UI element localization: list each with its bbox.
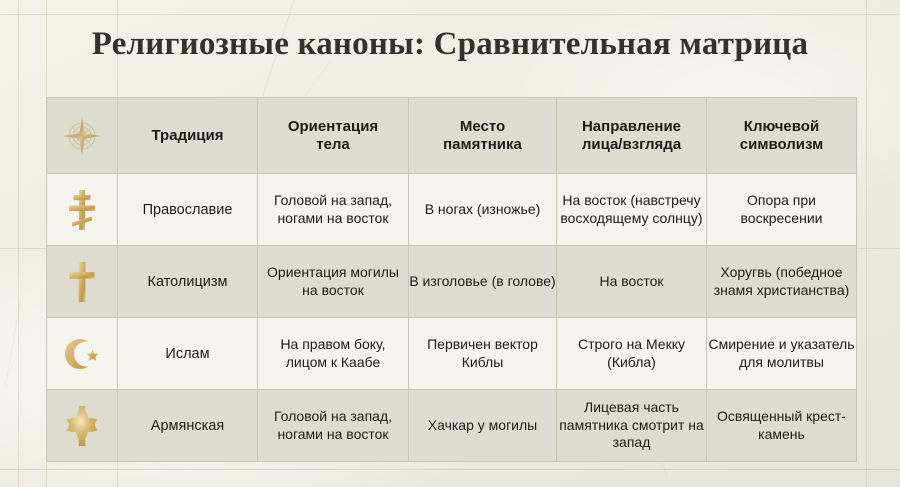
column-header-label-line2: лица/взгляда — [582, 136, 681, 153]
cell-orientation: Ориентация могилы на восток — [258, 246, 409, 318]
column-header-label-line1: Ориентация — [288, 118, 378, 135]
cell-tradition: Ислам — [118, 318, 258, 390]
compass-rose-header-cell — [47, 98, 118, 174]
armenian-cross-icon — [47, 403, 117, 449]
cell-orientation: Головой на запад, ногами на восток — [258, 390, 409, 462]
table-row: Армянская Головой на запад, ногами на во… — [47, 390, 857, 462]
cell-orientation: Головой на запад, ногами на восток — [258, 174, 409, 246]
cell-symbolism: Смирение и указатель для молитвы — [707, 318, 857, 390]
cell-facing: Лицевая часть памятника смотрит на запад — [557, 390, 707, 462]
crescent-star-icon — [47, 332, 117, 376]
cell-tradition: Католицизм — [118, 246, 258, 318]
table-header: Традиция Ориентация тела Место памятника… — [47, 98, 857, 174]
cell-facing: На восток (навстречу восходящему солнцу) — [557, 174, 707, 246]
page-title: Религиозные каноны: Сравнительная матриц… — [0, 26, 900, 63]
background-gridline — [0, 469, 900, 470]
column-header-label: Традиция — [151, 127, 223, 144]
cell-facing: На восток — [557, 246, 707, 318]
row-icon-cell — [47, 318, 118, 390]
column-header-label-line1: Ключевой — [744, 118, 819, 135]
column-header-label-line2: тела — [316, 136, 350, 153]
cell-tradition: Армянская — [118, 390, 258, 462]
column-header-label-line2: символизм — [740, 136, 823, 153]
comparison-matrix-table: Традиция Ориентация тела Место памятника… — [46, 97, 857, 462]
marble-vein — [4, 300, 21, 389]
compass-rose-icon — [47, 114, 117, 158]
row-icon-cell — [47, 390, 118, 462]
column-header-orientation: Ориентация тела — [258, 98, 409, 174]
cell-tradition: Православие — [118, 174, 258, 246]
cell-place: В ногах (изножье) — [409, 174, 557, 246]
cell-symbolism: Опора при воскресении — [707, 174, 857, 246]
column-header-symbolism: Ключевой символизм — [707, 98, 857, 174]
column-header-facing: Направление лица/взгляда — [557, 98, 707, 174]
row-icon-cell — [47, 174, 118, 246]
background-gridline — [0, 14, 900, 15]
orthodox-cross-icon — [47, 187, 117, 233]
slide-canvas: Религиозные каноны: Сравнительная матриц… — [0, 0, 900, 487]
background-gridline — [866, 0, 867, 487]
column-header-label-line1: Направление — [582, 118, 681, 135]
latin-cross-icon — [47, 259, 117, 305]
table-row: Ислам На правом боку, лицом к Каабе Перв… — [47, 318, 857, 390]
background-gridline — [18, 0, 19, 487]
table-header-row: Традиция Ориентация тела Место памятника… — [47, 98, 857, 174]
table-body: Православие Головой на запад, ногами на … — [47, 174, 857, 462]
table-row: Православие Головой на запад, ногами на … — [47, 174, 857, 246]
cell-place: Хачкар у могилы — [409, 390, 557, 462]
cell-facing: Строго на Мекку (Кибла) — [557, 318, 707, 390]
cell-place: Первичен вектор Киблы — [409, 318, 557, 390]
cell-place: В изголовье (в голове) — [409, 246, 557, 318]
cell-symbolism: Хоругвь (победное знамя христианства) — [707, 246, 857, 318]
cell-symbolism: Освященный крест-камень — [707, 390, 857, 462]
table-row: Католицизм Ориентация могилы на восток В… — [47, 246, 857, 318]
column-header-tradition: Традиция — [118, 98, 258, 174]
column-header-label-line1: Место — [460, 118, 505, 135]
cell-orientation: На правом боку, лицом к Каабе — [258, 318, 409, 390]
column-header-label-line2: памятника — [443, 136, 522, 153]
column-header-place: Место памятника — [409, 98, 557, 174]
row-icon-cell — [47, 246, 118, 318]
